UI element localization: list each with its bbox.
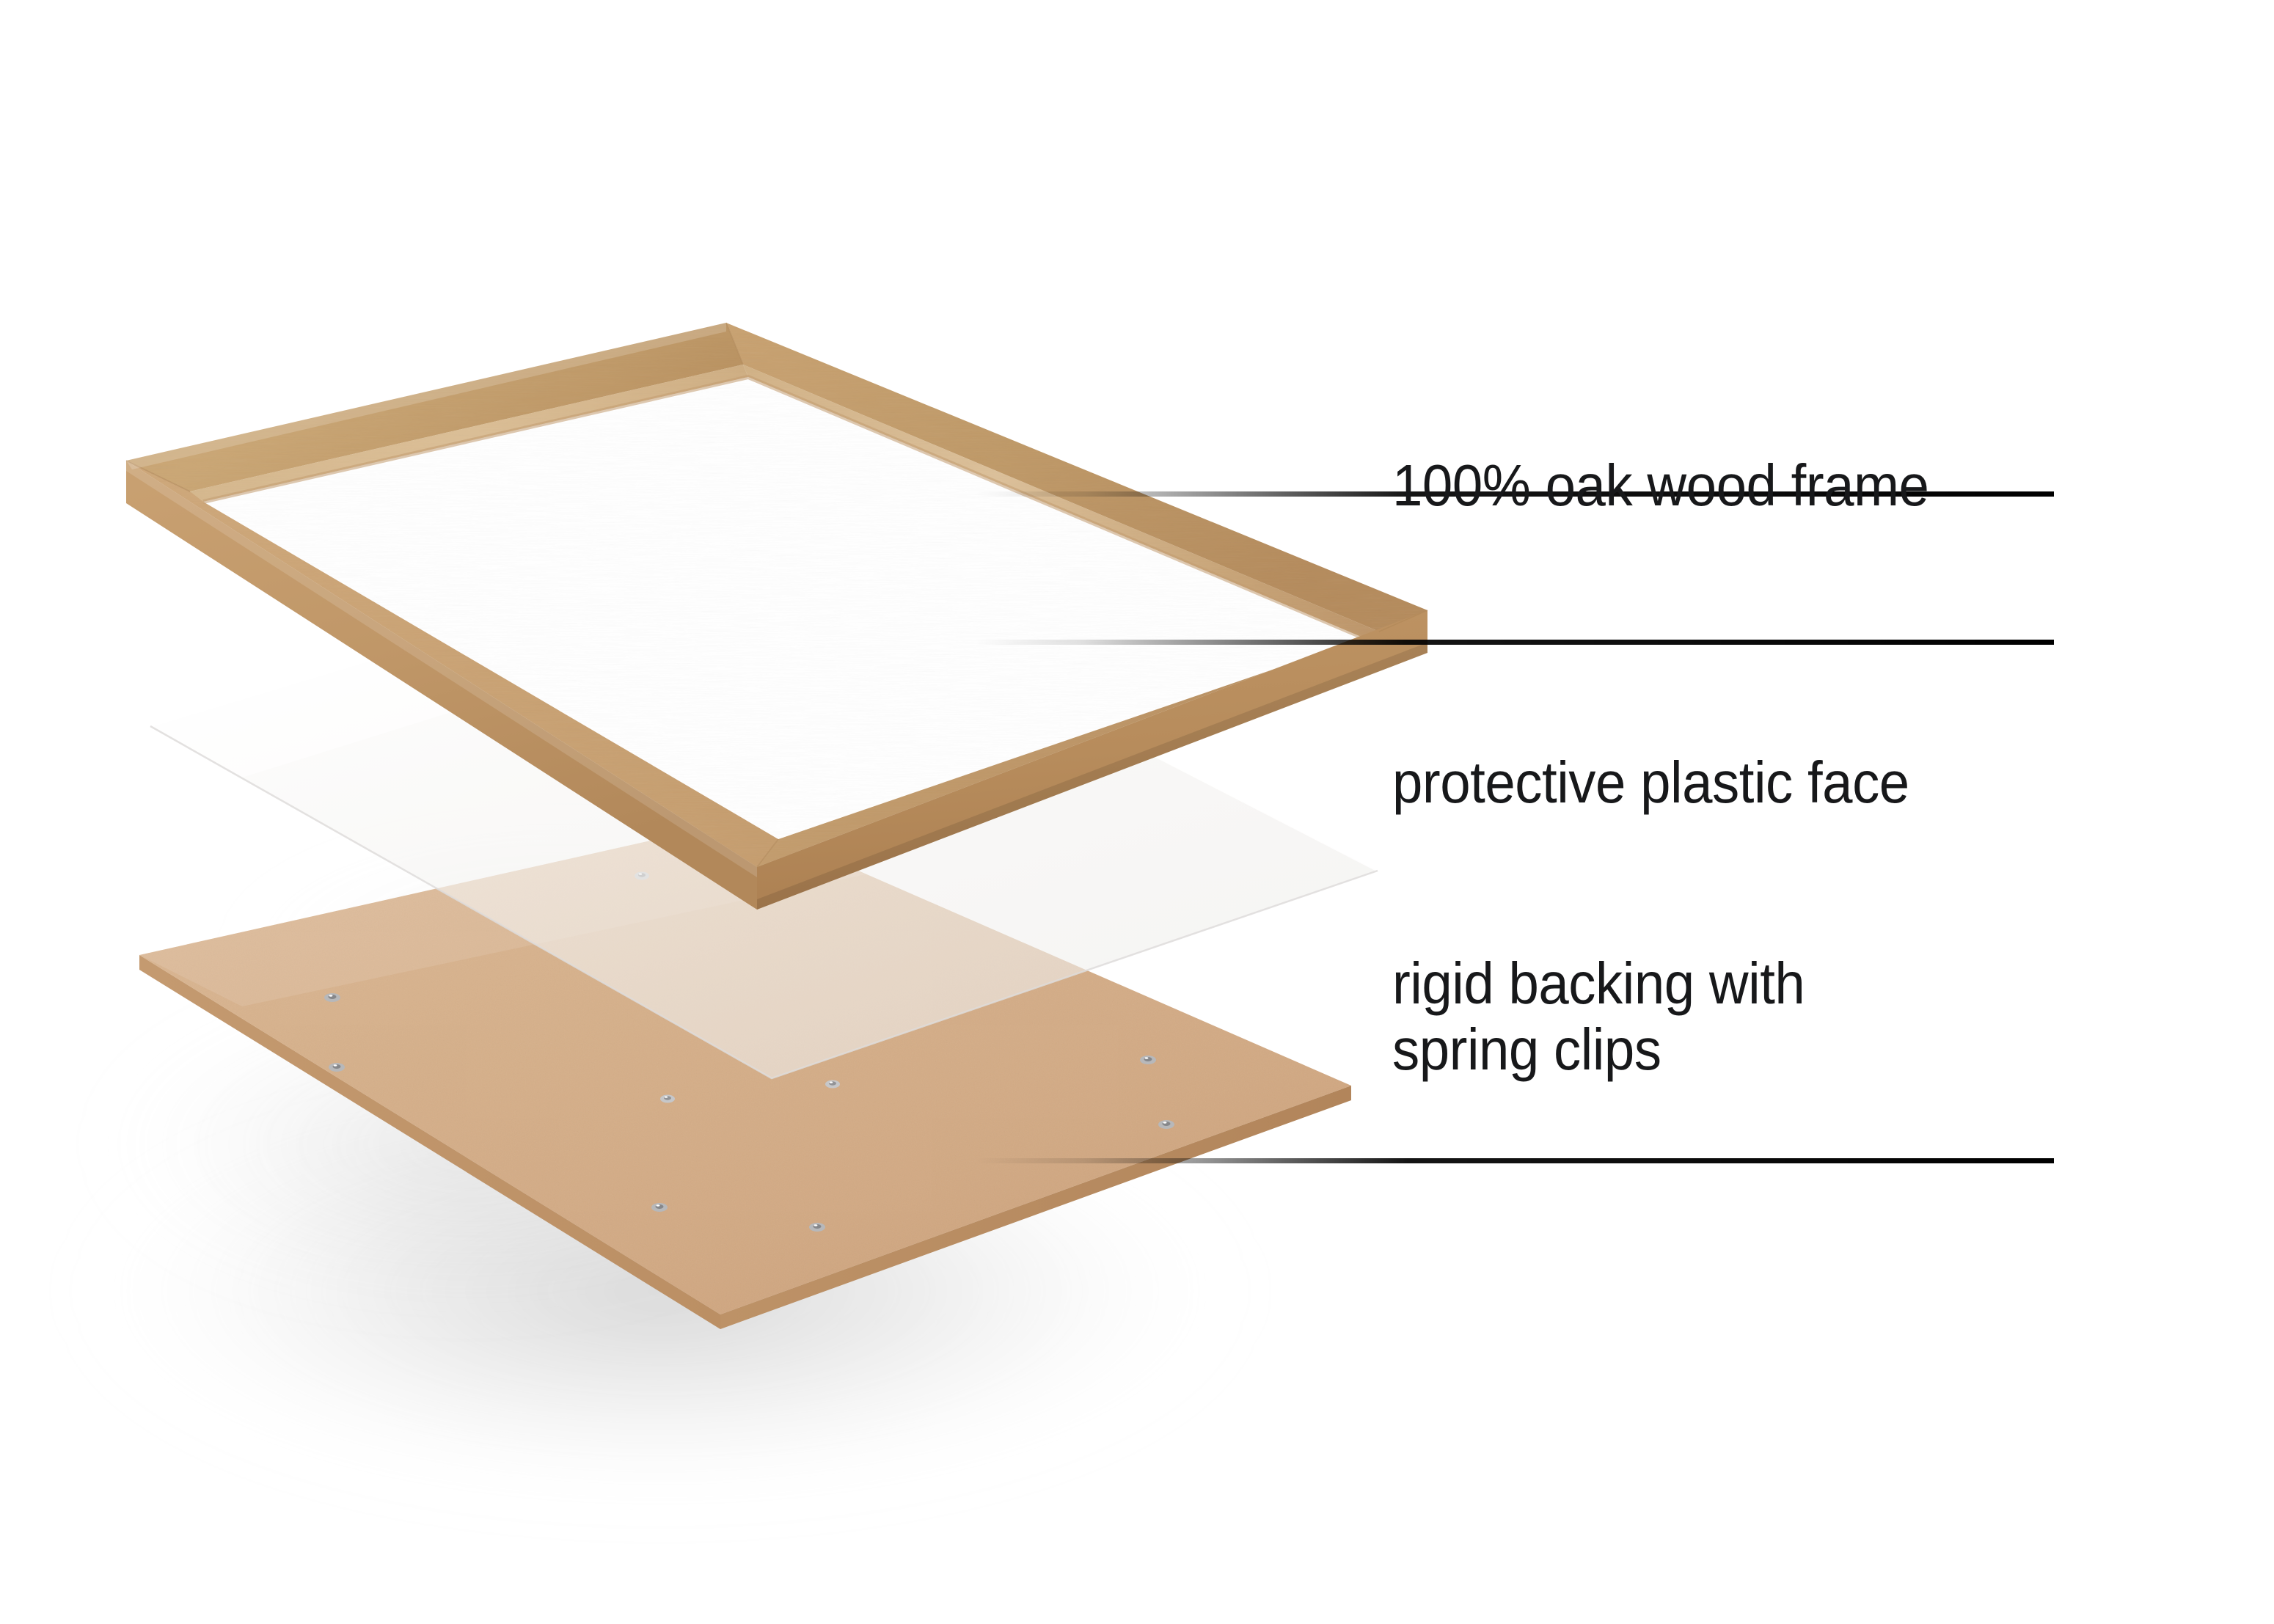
leader-line-backing xyxy=(976,1158,2054,1163)
diagram-canvas: 100% oak wood frame protective plastic f… xyxy=(0,0,2274,1624)
exploded-frame-illustration xyxy=(0,0,2274,1624)
callout-label-oak-wood-frame: 100% oak wood frame xyxy=(1392,453,1928,519)
callout-label-protective-plastic-face: protective plastic face xyxy=(1392,750,1909,816)
leader-line-plastic xyxy=(976,640,2054,645)
callout-label-rigid-backing-spring-clips: rigid backing with spring clips xyxy=(1392,951,1805,1082)
